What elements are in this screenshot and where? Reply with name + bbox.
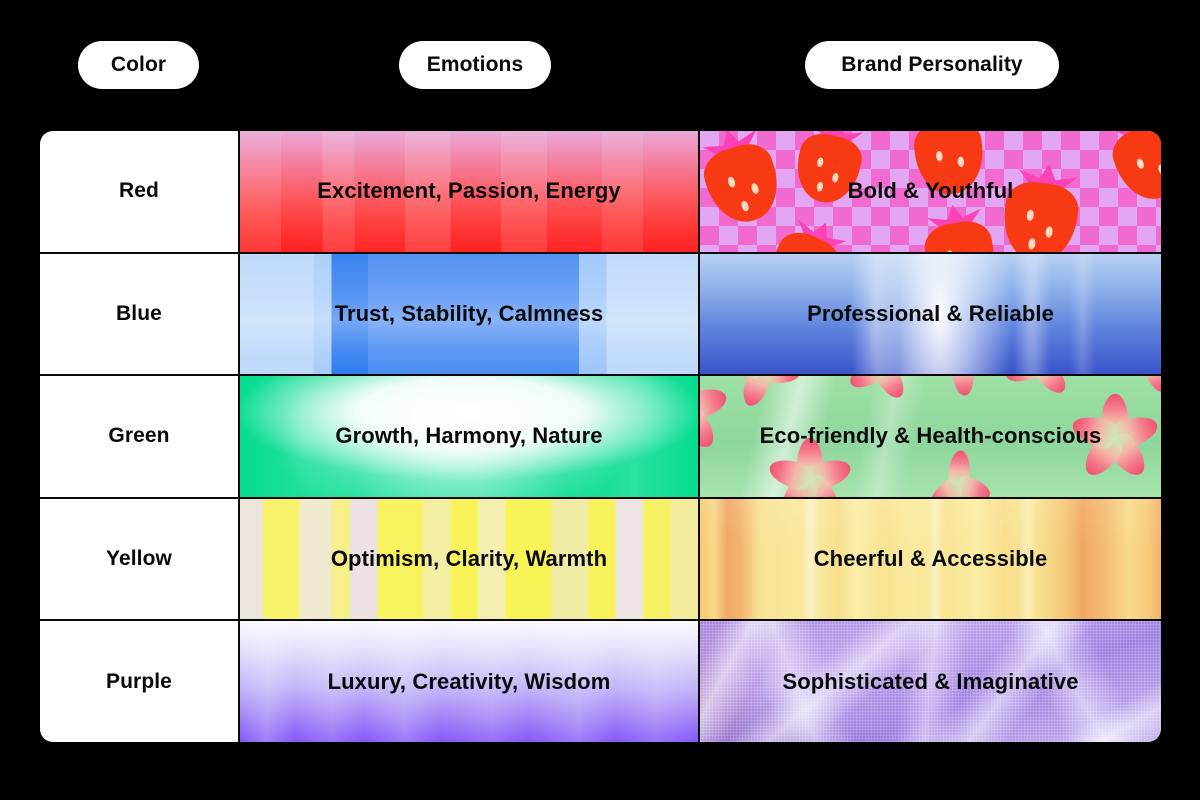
color-name-label: Purple [106, 670, 172, 694]
brand-personality-label: Professional & Reliable [807, 301, 1054, 327]
brand-personality-cell-purple: Sophisticated & Imaginative [700, 621, 1161, 742]
brand-personality-label: Sophisticated & Imaginative [782, 669, 1078, 695]
column-header-row: Color Emotions Brand Personality [0, 41, 1200, 89]
emotions-cell-green: Growth, Harmony, Nature [240, 376, 700, 497]
emotions-label: Optimism, Clarity, Warmth [331, 546, 607, 572]
brand-personality-cell-yellow: Cheerful & Accessible [700, 499, 1161, 620]
color-name-label: Red [119, 179, 159, 203]
color-name-label: Blue [116, 302, 162, 326]
color-name-cell-blue: Blue [40, 254, 240, 375]
table-row-blue: Blue Trust, Stability, Calmness Professi… [40, 254, 1161, 377]
brand-personality-cell-green: Eco-friendly & Health-conscious [700, 376, 1161, 497]
brand-personality-cell-red: Bold & Youthful [700, 131, 1161, 252]
emotions-label: Growth, Harmony, Nature [335, 423, 602, 449]
color-name-cell-yellow: Yellow [40, 499, 240, 620]
column-header-brand-personality: Brand Personality [805, 41, 1059, 89]
brand-personality-label: Cheerful & Accessible [814, 546, 1048, 572]
brand-personality-cell-blue: Professional & Reliable [700, 254, 1161, 375]
color-name-cell-purple: Purple [40, 621, 240, 742]
color-psychology-table-page: Color Emotions Brand Personality Red Exc… [0, 0, 1200, 800]
color-psychology-table: Red Excitement, Passion, Energy [40, 131, 1161, 742]
emotions-cell-yellow: Optimism, Clarity, Warmth [240, 499, 700, 620]
color-name-cell-green: Green [40, 376, 240, 497]
table-row-green: Green Growth, Harmony, Nature [40, 376, 1161, 499]
color-name-label: Green [108, 424, 169, 448]
emotions-label: Trust, Stability, Calmness [335, 301, 604, 327]
emotions-label: Excitement, Passion, Energy [317, 178, 620, 204]
brand-personality-label: Bold & Youthful [848, 178, 1014, 204]
emotions-cell-red: Excitement, Passion, Energy [240, 131, 700, 252]
emotions-cell-blue: Trust, Stability, Calmness [240, 254, 700, 375]
table-row-yellow: Yellow Optimism, Clarity, Warmth Cheerfu… [40, 499, 1161, 622]
brand-personality-label: Eco-friendly & Health-conscious [760, 423, 1102, 449]
column-header-emotions: Emotions [399, 41, 551, 89]
table-row-purple: Purple Luxury, Creativity, Wisdom Sophis… [40, 621, 1161, 742]
color-name-cell-red: Red [40, 131, 240, 252]
emotions-cell-purple: Luxury, Creativity, Wisdom [240, 621, 700, 742]
emotions-label: Luxury, Creativity, Wisdom [328, 669, 611, 695]
table-row-red: Red Excitement, Passion, Energy [40, 131, 1161, 254]
color-name-label: Yellow [106, 547, 172, 571]
column-header-color: Color [78, 41, 199, 89]
